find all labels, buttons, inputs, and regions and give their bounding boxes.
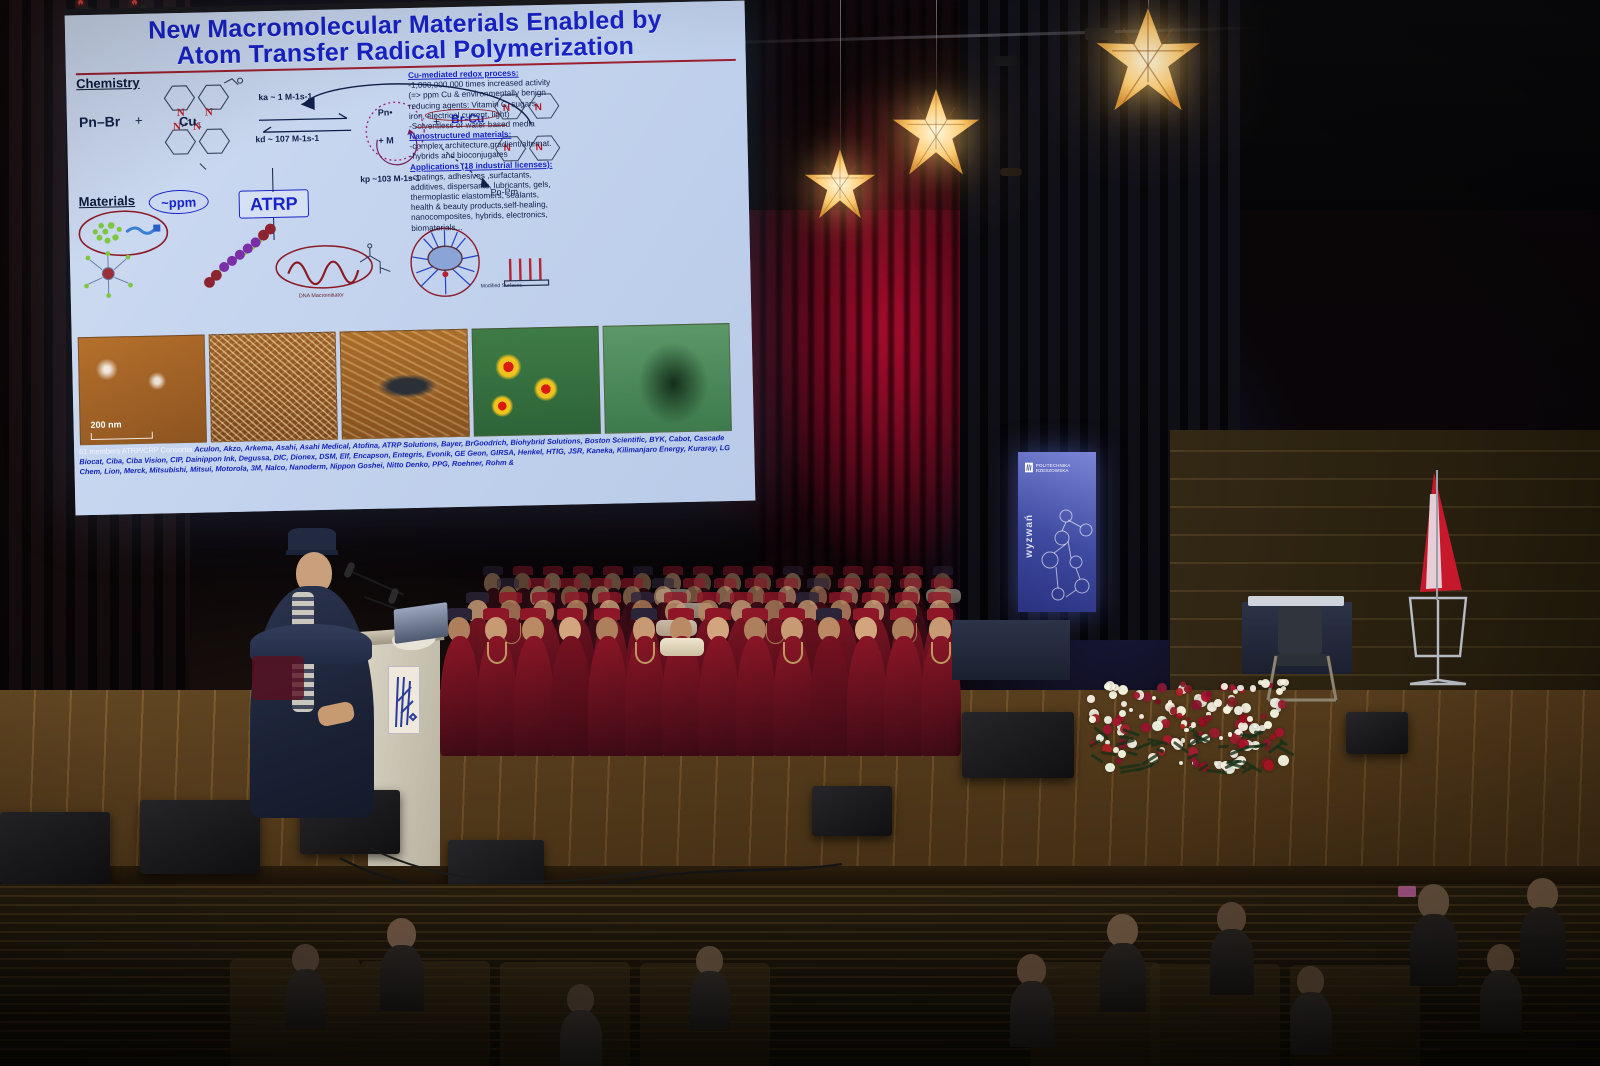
audience-shoulders [1520,907,1566,976]
audience-shoulders [560,1010,602,1066]
seated-academic [736,608,776,758]
flower [1278,755,1289,766]
presidium-table [952,620,1070,680]
flower [1179,761,1184,766]
flower [1104,716,1112,724]
flower [1264,721,1272,729]
seated-academic [810,608,850,758]
audience-shoulders [1480,970,1522,1033]
stage-monitor-mid [812,786,892,836]
audience-shoulders [1010,981,1054,1047]
flower [1276,688,1283,695]
flower [1155,699,1161,705]
seated-academic [699,608,739,758]
audience-member [286,944,326,1028]
flower [1231,686,1235,690]
audience-member [690,946,730,1030]
flower [1176,688,1183,695]
flower [1121,701,1127,707]
academic-robe [736,636,776,756]
seated-academic [773,608,813,758]
seated-academic [514,608,554,758]
flower [1089,716,1096,723]
flower [1087,695,1094,702]
floral-arrangement [1086,664,1286,774]
seated-academic [847,608,887,758]
audience-member [1290,966,1332,1054]
foliage [1091,753,1104,763]
flower [1116,758,1122,764]
flower [1219,736,1223,740]
audience-member [1100,914,1146,1011]
flower [1205,715,1212,722]
ermine-collar [660,638,704,656]
flower [1109,691,1117,699]
flower [1191,700,1202,711]
robe-lining [252,656,304,700]
audience-shoulders [1410,914,1458,986]
audience-member [1410,884,1458,985]
flower [1152,721,1162,731]
audience-member [560,984,602,1066]
flower [1193,760,1199,766]
flower [1264,760,1275,771]
flower [1209,728,1220,739]
audience-shoulders [1210,929,1254,995]
flower [1105,763,1115,773]
chain-of-office [635,642,655,664]
audience-member [1210,902,1254,994]
lecturer [248,528,378,818]
seated-academic [588,608,628,758]
flower [1170,707,1178,715]
academic-robe [699,636,739,756]
flower [1186,717,1190,721]
flower [1270,709,1279,718]
academic-robe [810,636,850,756]
foreground-audience-heads [0,884,1600,1066]
academic-robe [514,636,554,756]
foliage [1127,751,1138,757]
stage-monitor-left [140,800,260,874]
flower [1227,697,1237,707]
academic-robe [440,636,480,756]
academic-robe [551,636,591,756]
academic-robe [847,636,887,756]
flower [1250,685,1256,691]
stage-monitor-right [962,712,1074,778]
ceremonial-flag [1404,470,1478,690]
stage-monitor-far-left [0,812,110,884]
chain-of-office [783,642,803,664]
flower [1139,714,1144,719]
audience-shoulders [380,945,424,1011]
flower [1261,714,1266,719]
flower [1247,716,1253,722]
flower [1104,683,1111,690]
foliage [1218,745,1229,749]
flower [1278,700,1287,709]
flower [1234,706,1243,715]
flower [1118,750,1126,758]
audience-shoulders [1290,992,1332,1055]
flower [1129,708,1133,712]
flower [1214,699,1222,707]
chain-of-office [931,642,951,664]
flower [1261,679,1270,688]
camera-phone-screen [1398,886,1416,897]
audience-member [1480,944,1522,1032]
lectern-logo-plate [388,666,420,734]
flower [1275,728,1284,737]
flower [1157,683,1167,693]
audience-member [1520,878,1566,975]
flower [1103,725,1112,734]
flower [1223,706,1231,714]
flower [1237,685,1243,691]
conference-hall-photo: New Macromolecular Materials Enabled by … [0,0,1600,1066]
flower [1152,696,1156,700]
seated-academic [551,608,591,758]
academic-robe [884,636,924,756]
audience-shoulders [690,971,730,1031]
seated-academic [625,608,665,758]
flower [1118,685,1128,695]
flower [1206,691,1212,697]
seated-academic [477,608,517,758]
university-logo-icon [389,667,421,735]
audience-shoulders [286,969,326,1029]
flower [1184,685,1192,693]
audience-member [1010,954,1054,1046]
chain-of-office [487,642,507,664]
seated-academic [884,608,924,758]
flower [1141,723,1151,733]
audience-shoulders [1100,943,1146,1012]
audience-member [380,918,424,1010]
seated-academic [662,608,702,758]
stage-monitor-far-right [1346,712,1408,754]
academic-robe [588,636,628,756]
flower [1119,710,1126,717]
